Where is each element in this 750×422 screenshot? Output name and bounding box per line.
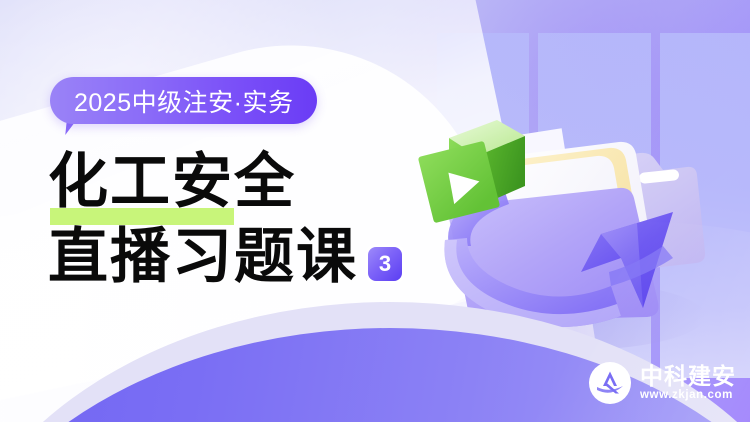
headline-line-1-text: 化工安全 [48,149,296,215]
document-sheet-white-front [479,156,630,282]
brand-name: 中科建安 [640,365,736,388]
folder-tab-notch [639,169,680,184]
document-sheet-white-back [501,142,651,266]
arrow-ribbon-front-band [444,238,621,327]
illustration-shadow [445,282,705,350]
background-vertical-stripes [437,33,750,378]
course-banner: 2025中级注安·实务 化工安全 直播习题课 3 中科建安 www.zkjan.… [0,0,750,422]
stripe-panel-3 [660,33,750,378]
zkjan-mountain-icon [589,362,631,404]
episode-number-badge: 3 [368,247,402,281]
document-sheet-cream [491,148,642,274]
arrow-head [581,212,673,308]
headline-line-2-text: 直播习题课 [48,227,358,288]
headline-line-1: 化工安全 [48,152,468,213]
course-category-label: 2025中级注安·实务 [74,83,293,119]
brand-logo-text: 中科建安 www.zkjan.com [640,365,736,402]
arrow-ribbon-tail-right [609,246,673,286]
arrow-ribbon-highlight [444,240,621,327]
brand-url: www.zkjan.com [640,390,736,402]
headline-block: 化工安全 直播习题课 3 [48,152,468,288]
cube-top-face [449,120,525,156]
headline-line-2: 直播习题课 3 [48,227,468,288]
stripe-panel-2 [538,33,651,378]
brand-logo[interactable]: 中科建安 www.zkjan.com [589,362,736,404]
course-category-badge: 2025中级注安·实务 [50,77,317,124]
arrow-head-facet [601,223,643,308]
folder-back-panel [518,153,705,281]
cube-side-face [477,136,525,206]
folder-front-panel [449,188,659,321]
